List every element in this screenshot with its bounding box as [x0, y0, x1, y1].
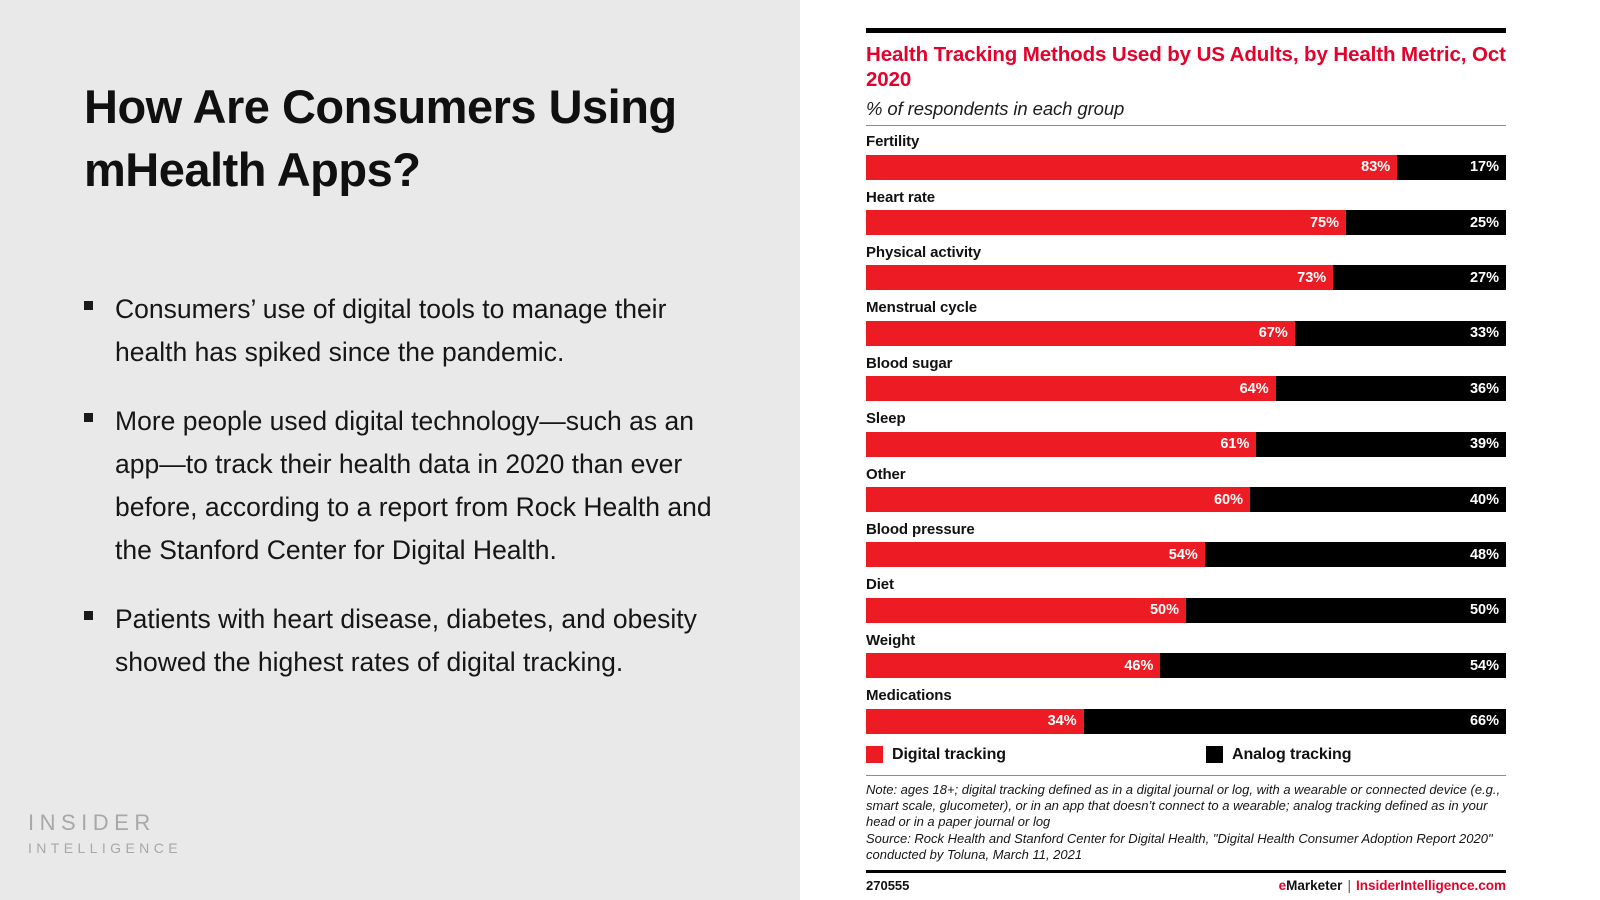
bar-segment-digital: 54% [866, 542, 1205, 567]
bar-segment-digital: 61% [866, 432, 1256, 457]
legend-label-digital: Digital tracking [892, 746, 1006, 764]
bar-segment-digital: 64% [866, 376, 1276, 401]
bar-row-label: Blood sugar [866, 354, 1506, 374]
bar-segment-digital: 46% [866, 653, 1160, 678]
list-item: More people used digital technology—such… [84, 400, 724, 572]
logo-line-insider: INSIDER [28, 808, 182, 838]
legend-swatch-analog-icon [1206, 746, 1223, 763]
insider-intelligence-logo: INSIDER INTELLIGENCE [28, 808, 182, 858]
bar-segment-analog: 50% [1186, 598, 1506, 623]
square-bullet-icon [84, 301, 93, 310]
bullet-list: Consumers’ use of digital tools to manag… [84, 288, 724, 710]
list-item-text: Patients with heart disease, diabetes, a… [115, 598, 724, 684]
chart-card: Health Tracking Methods Used by US Adult… [866, 28, 1506, 893]
left-content-panel: How Are Consumers Using mHealth Apps? Co… [0, 0, 800, 900]
chart-title: Health Tracking Methods Used by US Adult… [866, 42, 1506, 93]
bar-row-label: Other [866, 465, 1506, 485]
bar-row: Sleep61%39% [866, 409, 1506, 456]
brand-site: InsiderIntelligence.com [1356, 878, 1506, 893]
bar-track: 34%66% [866, 709, 1506, 734]
bar-track: 61%39% [866, 432, 1506, 457]
bar-row-label: Blood pressure [866, 520, 1506, 540]
bar-row: Fertility83%17% [866, 132, 1506, 179]
chart-top-rule [866, 28, 1506, 33]
bar-row: Physical activity73%27% [866, 243, 1506, 290]
bar-row: Weight46%54% [866, 631, 1506, 678]
bar-row: Menstrual cycle67%33% [866, 298, 1506, 345]
bar-row-label: Heart rate [866, 188, 1506, 208]
bar-segment-digital: 60% [866, 487, 1250, 512]
emarketer-brand: eMarketer|InsiderIntelligence.com [1279, 878, 1506, 893]
chart-footer: 270555 eMarketer|InsiderIntelligence.com [866, 878, 1506, 893]
bar-track: 67%33% [866, 321, 1506, 346]
bar-segment-digital: 83% [866, 155, 1397, 180]
bar-segment-analog: 66% [1084, 709, 1506, 734]
bar-segment-digital: 67% [866, 321, 1295, 346]
slide: How Are Consumers Using mHealth Apps? Co… [0, 0, 1600, 900]
list-item-text: More people used digital technology—such… [115, 400, 724, 572]
legend-label-analog: Analog tracking [1232, 746, 1351, 764]
bar-track: 60%40% [866, 487, 1506, 512]
bar-segment-analog: 17% [1397, 155, 1506, 180]
bar-track: 64%36% [866, 376, 1506, 401]
bar-row: Blood pressure54%48% [866, 520, 1506, 567]
chart-bottom-rule [866, 870, 1506, 873]
brand-marketer: Marketer [1286, 878, 1342, 893]
legend-swatch-digital-icon [866, 746, 883, 763]
chart-source-text: Source: Rock Health and Stanford Center … [866, 831, 1506, 863]
bar-row-label: Physical activity [866, 243, 1506, 263]
bar-segment-analog: 54% [1160, 653, 1506, 678]
bar-segment-analog: 48% [1205, 542, 1506, 567]
chart-note: Note: ages 18+; digital tracking defined… [866, 782, 1506, 863]
bar-chart-rows: Fertility83%17%Heart rate75%25%Physical … [866, 132, 1506, 733]
list-item: Patients with heart disease, diabetes, a… [84, 598, 724, 684]
list-item: Consumers’ use of digital tools to manag… [84, 288, 724, 374]
right-chart-panel: Health Tracking Methods Used by US Adult… [800, 0, 1600, 900]
bar-row-label: Weight [866, 631, 1506, 651]
bar-row-label: Menstrual cycle [866, 298, 1506, 318]
bar-track: 54%48% [866, 542, 1506, 567]
bar-row: Diet50%50% [866, 575, 1506, 622]
chart-id: 270555 [866, 878, 909, 893]
bar-segment-digital: 34% [866, 709, 1084, 734]
chart-subtitle: % of respondents in each group [866, 98, 1506, 120]
bar-row: Blood sugar64%36% [866, 354, 1506, 401]
bar-segment-digital: 75% [866, 210, 1346, 235]
legend-item-digital-tracking: Digital tracking [866, 746, 1206, 764]
bar-row: Medications34%66% [866, 686, 1506, 733]
bar-row: Heart rate75%25% [866, 188, 1506, 235]
bar-segment-analog: 40% [1250, 487, 1506, 512]
bar-segment-analog: 36% [1276, 376, 1506, 401]
list-item-text: Consumers’ use of digital tools to manag… [115, 288, 724, 374]
chart-legend: Digital tracking Analog tracking [866, 746, 1506, 764]
bar-row-label: Medications [866, 686, 1506, 706]
bar-segment-digital: 73% [866, 265, 1333, 290]
chart-subtitle-divider [866, 125, 1506, 127]
square-bullet-icon [84, 413, 93, 422]
bar-segment-analog: 25% [1346, 210, 1506, 235]
bar-segment-digital: 50% [866, 598, 1186, 623]
bar-row-label: Diet [866, 575, 1506, 595]
logo-line-intelligence: INTELLIGENCE [28, 839, 182, 858]
bar-track: 75%25% [866, 210, 1506, 235]
bar-segment-analog: 27% [1333, 265, 1506, 290]
bar-track: 46%54% [866, 653, 1506, 678]
bar-row-label: Sleep [866, 409, 1506, 429]
bar-track: 73%27% [866, 265, 1506, 290]
bar-segment-analog: 33% [1295, 321, 1506, 346]
legend-item-analog-tracking: Analog tracking [1206, 746, 1351, 764]
square-bullet-icon [84, 611, 93, 620]
bar-row-label: Fertility [866, 132, 1506, 152]
chart-note-divider [866, 775, 1506, 777]
bar-track: 50%50% [866, 598, 1506, 623]
brand-separator: | [1342, 878, 1356, 893]
page-title: How Are Consumers Using mHealth Apps? [84, 76, 724, 201]
chart-note-text: Note: ages 18+; digital tracking defined… [866, 782, 1506, 830]
bar-row: Other60%40% [866, 465, 1506, 512]
bar-segment-analog: 39% [1256, 432, 1506, 457]
bar-track: 83%17% [866, 155, 1506, 180]
